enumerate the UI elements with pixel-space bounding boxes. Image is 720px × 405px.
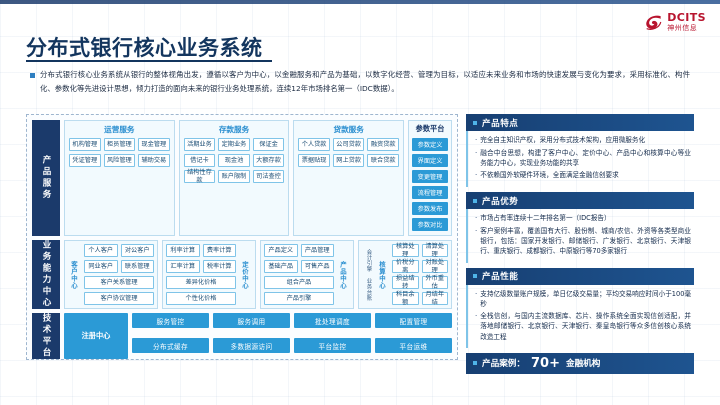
capability-cell[interactable]: 组合产品: [264, 276, 334, 289]
logo-cn-text: 神州信息: [667, 25, 706, 32]
band-label-tech-platform: 技术平台: [32, 313, 60, 359]
service-cell[interactable]: 网上贷款: [333, 154, 365, 167]
capability-center-title: 核算中心: [376, 244, 389, 305]
bullet-dot-icon: ·: [475, 148, 477, 168]
tech-cell[interactable]: 服务管控: [132, 313, 209, 328]
intro-text: 分布式银行核心业务系统从银行的整体视角出发，遵循以客户为中心，以金融服务和产品为…: [40, 68, 690, 95]
tech-cell[interactable]: 服务调用: [213, 313, 290, 328]
capability-center-accounting: 会计引擎 业务台账 核算中心 核算处理 清算处理 价税分离 对账处理 损益结转 …: [358, 240, 452, 309]
bullet-item: · 支持亿级数量账户规模，单日亿级交易量；平均交易响应时间小于100毫秒: [475, 289, 691, 309]
service-cell[interactable]: 个人贷款: [298, 138, 330, 151]
capability-cell[interactable]: 费率计算: [203, 244, 237, 257]
service-cell[interactable]: 风险管理: [104, 154, 136, 167]
bullet-item: · 客户案例丰富，覆盖国有大行、股份制、城商/农信、外资等各类型商业银行，包括：…: [475, 226, 691, 257]
service-cell[interactable]: 现金池: [218, 154, 250, 167]
bullet-dot-icon: ·: [475, 170, 477, 181]
service-cell[interactable]: 大额存款: [253, 154, 285, 167]
section-product-advantages: 产品优势 · 市场占有率连续十二年排名第一（IDC报告） · 客户案例丰富，覆盖…: [466, 192, 694, 263]
section-title: 产品优势: [482, 195, 518, 207]
bullet-dot-icon: ·: [475, 213, 477, 224]
top-accent-rule: [0, 0, 720, 4]
section-body: · 支持亿级数量账户规模，单日亿级交易量；平均交易响应时间小于100毫秒 · 全…: [466, 285, 694, 348]
service-cell[interactable]: 公司贷款: [333, 138, 365, 151]
tech-cell[interactable]: 多数据源访问: [213, 338, 290, 353]
capability-cell[interactable]: 核算处理: [392, 244, 419, 257]
brand-logo: DCITS 神州信息: [644, 12, 706, 32]
bullet-item: · 市场占有率连续十二年排名第一（IDC报告）: [475, 213, 691, 224]
service-cell[interactable]: 结构性存款: [184, 170, 216, 183]
capability-cell[interactable]: 客户关系管理: [84, 276, 154, 289]
service-cell[interactable]: 保证金: [253, 138, 285, 151]
capability-center-customer: 客户中心 个人客户 对公客户 同业客户 联系管理 客户关系管理 客户协议管理: [64, 240, 158, 309]
bullet-item: · 完全自主知识产权，采用分布式技术架构，应用微服务化: [475, 135, 691, 146]
capability-cell-grid: 产品定义 产品管理 基础产品 可售产品 组合产品 产品引擎: [264, 244, 334, 305]
service-cell[interactable]: 凭证管理: [69, 154, 101, 167]
service-cell[interactable]: 辅助交易: [138, 154, 170, 167]
capability-cell[interactable]: 对公客户: [121, 244, 155, 257]
bullet-text: 客户案例丰富，覆盖国有大行、股份制、城商/农信、外资等各类型商业银行，包括：国家…: [480, 226, 691, 257]
service-group-title: 运营服务: [69, 124, 170, 135]
bullet-text: 支持亿级数量账户规模，单日亿级交易量；平均交易响应时间小于100毫秒: [480, 289, 691, 309]
product-case-bar: 产品案例： 70+ 金融机构: [466, 353, 694, 374]
bullet-text: 全栈信创，与国内主流数据库、芯片、操作系统全面实现信创适配，并落地邮储银行、北京…: [480, 311, 691, 342]
capability-cell[interactable]: 基础产品: [264, 260, 298, 273]
service-cell[interactable]: 定期业务: [218, 138, 250, 151]
parameter-cell[interactable]: 界面定义: [412, 154, 448, 167]
parameter-cell[interactable]: 参数发布: [412, 202, 448, 215]
capability-cell[interactable]: 客户协议管理: [84, 292, 154, 305]
capability-cell[interactable]: 个人客户: [84, 244, 118, 257]
capability-cell[interactable]: 产品引擎: [264, 292, 334, 305]
service-cell[interactable]: 联合贷款: [367, 154, 399, 167]
capability-cell[interactable]: 个性化价格: [166, 292, 236, 305]
capability-cell-grid: 利率计算 费率计算 汇率计算 税率计算 差异化价格 个性化价格: [166, 244, 236, 305]
intro-paragraph: 分布式银行核心业务系统从银行的整体视角出发，遵循以客户为中心，以金融服务和产品为…: [30, 68, 690, 95]
capability-cell[interactable]: 利率计算: [166, 244, 200, 257]
section-header: 产品特点: [466, 114, 694, 131]
section-title: 产品特点: [482, 117, 518, 129]
service-group-loan: 贷款服务 个人贷款 公司贷款 融资贷款 票据贴现 网上贷款 联合贷款: [293, 120, 404, 236]
band-label-product-services: 产品服务: [32, 120, 60, 236]
section-product-performance: 产品性能 · 支持亿级数量账户规模，单日亿级交易量；平均交易响应时间小于100毫…: [466, 268, 694, 348]
service-cell[interactable]: 融资贷款: [367, 138, 399, 151]
bullet-dot-icon: ·: [475, 289, 477, 309]
capability-cell[interactable]: 科目余额: [392, 292, 419, 305]
capability-cell[interactable]: 外币重估: [422, 276, 449, 289]
service-group-operations: 运营服务 机构管理 柜员管理 现金管理 凭证管理 风险管理 辅助交易: [64, 120, 175, 236]
section-header: 产品优势: [466, 192, 694, 209]
service-group-title: 贷款服务: [298, 124, 399, 135]
section-bullet-icon: [473, 199, 477, 203]
service-cell[interactable]: 借记卡: [184, 154, 216, 167]
band-tech-platform: 技术平台 注册中心 服务管控 服务调用 批处理调度 配置管理 分布式缓存 多数据…: [32, 313, 452, 359]
tech-cell[interactable]: 分布式缓存: [132, 338, 209, 353]
section-bullet-icon: [473, 121, 477, 125]
case-number: 70+: [531, 356, 560, 371]
section-body: · 市场占有率连续十二年排名第一（IDC报告） · 客户案例丰富，覆盖国有大行、…: [466, 209, 694, 263]
service-cell[interactable]: 机构管理: [69, 138, 101, 151]
service-cell[interactable]: 活期业务: [184, 138, 216, 151]
service-cell[interactable]: 账户限制: [218, 170, 250, 183]
tech-cell[interactable]: 平台运维: [375, 338, 452, 353]
band-label-capability-centers: 业务能力中心: [32, 240, 60, 309]
intro-bullet-icon: [30, 73, 35, 78]
parameter-cell[interactable]: 流程管理: [412, 186, 448, 199]
capability-center-title: 定价中心: [239, 244, 252, 305]
bullet-dot-icon: ·: [475, 226, 477, 257]
service-cell-grid: 个人贷款 公司贷款 融资贷款 票据贴现 网上贷款 联合贷款: [298, 138, 399, 167]
capability-cell[interactable]: 对账处理: [422, 260, 449, 273]
capability-cell-grid: 个人客户 对公客户 同业客户 联系管理 客户关系管理 客户协议管理: [84, 244, 154, 305]
capability-cell[interactable]: 产品管理: [301, 244, 335, 257]
capability-center-subtitle: 会计引擎 业务台账: [362, 244, 373, 305]
capability-cell[interactable]: 月结年结: [422, 292, 449, 305]
service-cell-grid: 活期业务 定期业务 保证金 借记卡 现金池 大额存款 结构性存款 账户限制 司法…: [184, 138, 285, 183]
service-cell[interactable]: 现金管理: [138, 138, 170, 151]
capability-cell[interactable]: 联系管理: [121, 260, 155, 273]
architecture-diagram: 产品服务 运营服务 机构管理 柜员管理 现金管理 凭证管理 风险管理 辅助交易 …: [26, 114, 458, 360]
service-cell[interactable]: 柜员管理: [104, 138, 136, 151]
service-cell-grid: 机构管理 柜员管理 现金管理 凭证管理 风险管理 辅助交易: [69, 138, 170, 167]
dcits-swirl-logo-icon: [644, 13, 663, 32]
bullet-item: · 不依赖国外软硬件环境，全面满足金融信创要求: [475, 170, 691, 181]
section-product-features: 产品特点 · 完全自主知识产权，采用分布式技术架构，应用微服务化 · 融合中台思…: [466, 114, 694, 187]
tech-cell[interactable]: 平台监控: [294, 338, 371, 353]
service-cell[interactable]: 司法查控: [253, 170, 285, 183]
parameter-platform-title: 参数平台: [412, 124, 448, 134]
capability-cell[interactable]: 汇率计算: [166, 260, 200, 273]
band-capability-centers: 业务能力中心 客户中心 个人客户 对公客户 同业客户 联系管理 客户关系管理 客…: [32, 240, 452, 309]
service-cell[interactable]: 票据贴现: [298, 154, 330, 167]
parameter-platform: 参数平台 参数定义 界面定义 变更管理 流程管理 参数发布 参数对比: [408, 120, 452, 236]
capability-cell[interactable]: 税率计算: [203, 260, 237, 273]
bullet-text: 市场占有率连续十二年排名第一（IDC报告）: [480, 213, 610, 224]
capability-cell[interactable]: 同业客户: [84, 260, 118, 273]
section-body: · 完全自主知识产权，采用分布式技术架构，应用微服务化 · 融合中台思想，构建了…: [466, 131, 694, 187]
page-title: 分布式银行核心业务系统: [26, 32, 263, 62]
parameter-cell[interactable]: 变更管理: [412, 170, 448, 183]
bullet-dot-icon: ·: [475, 311, 477, 342]
capability-center-product: 产品定义 产品管理 基础产品 可售产品 组合产品 产品引擎 产品中心: [260, 240, 354, 309]
capability-center-title: 客户中心: [68, 244, 81, 305]
capability-cell[interactable]: 可售产品: [301, 260, 335, 273]
section-title: 产品性能: [482, 270, 518, 282]
capability-cell-grid: 核算处理 清算处理 价税分离 对账处理 损益结转 外币重估 科目余额 月结年结: [392, 244, 448, 305]
service-group-title: 存款服务: [184, 124, 285, 135]
band-product-services: 产品服务 运营服务 机构管理 柜员管理 现金管理 凭证管理 风险管理 辅助交易 …: [32, 120, 452, 236]
capability-cell[interactable]: 清算处理: [422, 244, 449, 257]
bullet-text: 不依赖国外软硬件环境，全面满足金融信创要求: [480, 170, 618, 181]
slide-page: DCITS 神州信息 分布式银行核心业务系统 分布式银行核心业务系统从银行的整体…: [0, 0, 720, 405]
capability-center-pricing: 利率计算 费率计算 汇率计算 税率计算 差异化价格 个性化价格 定价中心: [162, 240, 256, 309]
tech-cell[interactable]: 配置管理: [375, 313, 452, 328]
logo-en-text: DCITS: [667, 12, 706, 23]
capability-cell[interactable]: 差异化价格: [166, 276, 236, 289]
bullet-item: · 全栈信创，与国内主流数据库、芯片、操作系统全面实现信创适配，并落地邮储银行、…: [475, 311, 691, 342]
case-bullet-icon: [473, 361, 477, 365]
title-underline: [26, 60, 272, 62]
bullet-text: 融合中台思想，构建了客户中心、定价中心、产品中心和核算中心等业务能力中心，实现业…: [480, 148, 691, 168]
capability-cell[interactable]: 产品定义: [264, 244, 298, 257]
tech-register-center[interactable]: 注册中心: [64, 313, 128, 359]
tech-cell[interactable]: 批处理调度: [294, 313, 371, 328]
capability-cell[interactable]: 价税分离: [392, 260, 419, 273]
bullet-dot-icon: ·: [475, 135, 477, 146]
capability-cell[interactable]: 损益结转: [392, 276, 419, 289]
service-group-deposit: 存款服务 活期业务 定期业务 保证金 借记卡 现金池 大额存款 结构性存款 账户…: [179, 120, 290, 236]
bullet-item: · 融合中台思想，构建了客户中心、定价中心、产品中心和核算中心等业务能力中心，实…: [475, 148, 691, 168]
section-header: 产品性能: [466, 268, 694, 285]
capability-center-title: 产品中心: [337, 244, 350, 305]
case-suffix: 金融机构: [566, 357, 600, 369]
bullet-text: 完全自主知识产权，采用分布式技术架构，应用微服务化: [480, 135, 645, 146]
section-bullet-icon: [473, 274, 477, 278]
parameter-cell[interactable]: 参数定义: [412, 138, 448, 151]
parameter-cell[interactable]: 参数对比: [412, 218, 448, 231]
case-label: 产品案例：: [482, 357, 525, 369]
right-info-panel: 产品特点 · 完全自主知识产权，采用分布式技术架构，应用微服务化 · 融合中台思…: [466, 114, 694, 360]
tech-cell-grid: 服务管控 服务调用 批处理调度 配置管理 分布式缓存 多数据源访问 平台监控 平…: [132, 313, 452, 359]
